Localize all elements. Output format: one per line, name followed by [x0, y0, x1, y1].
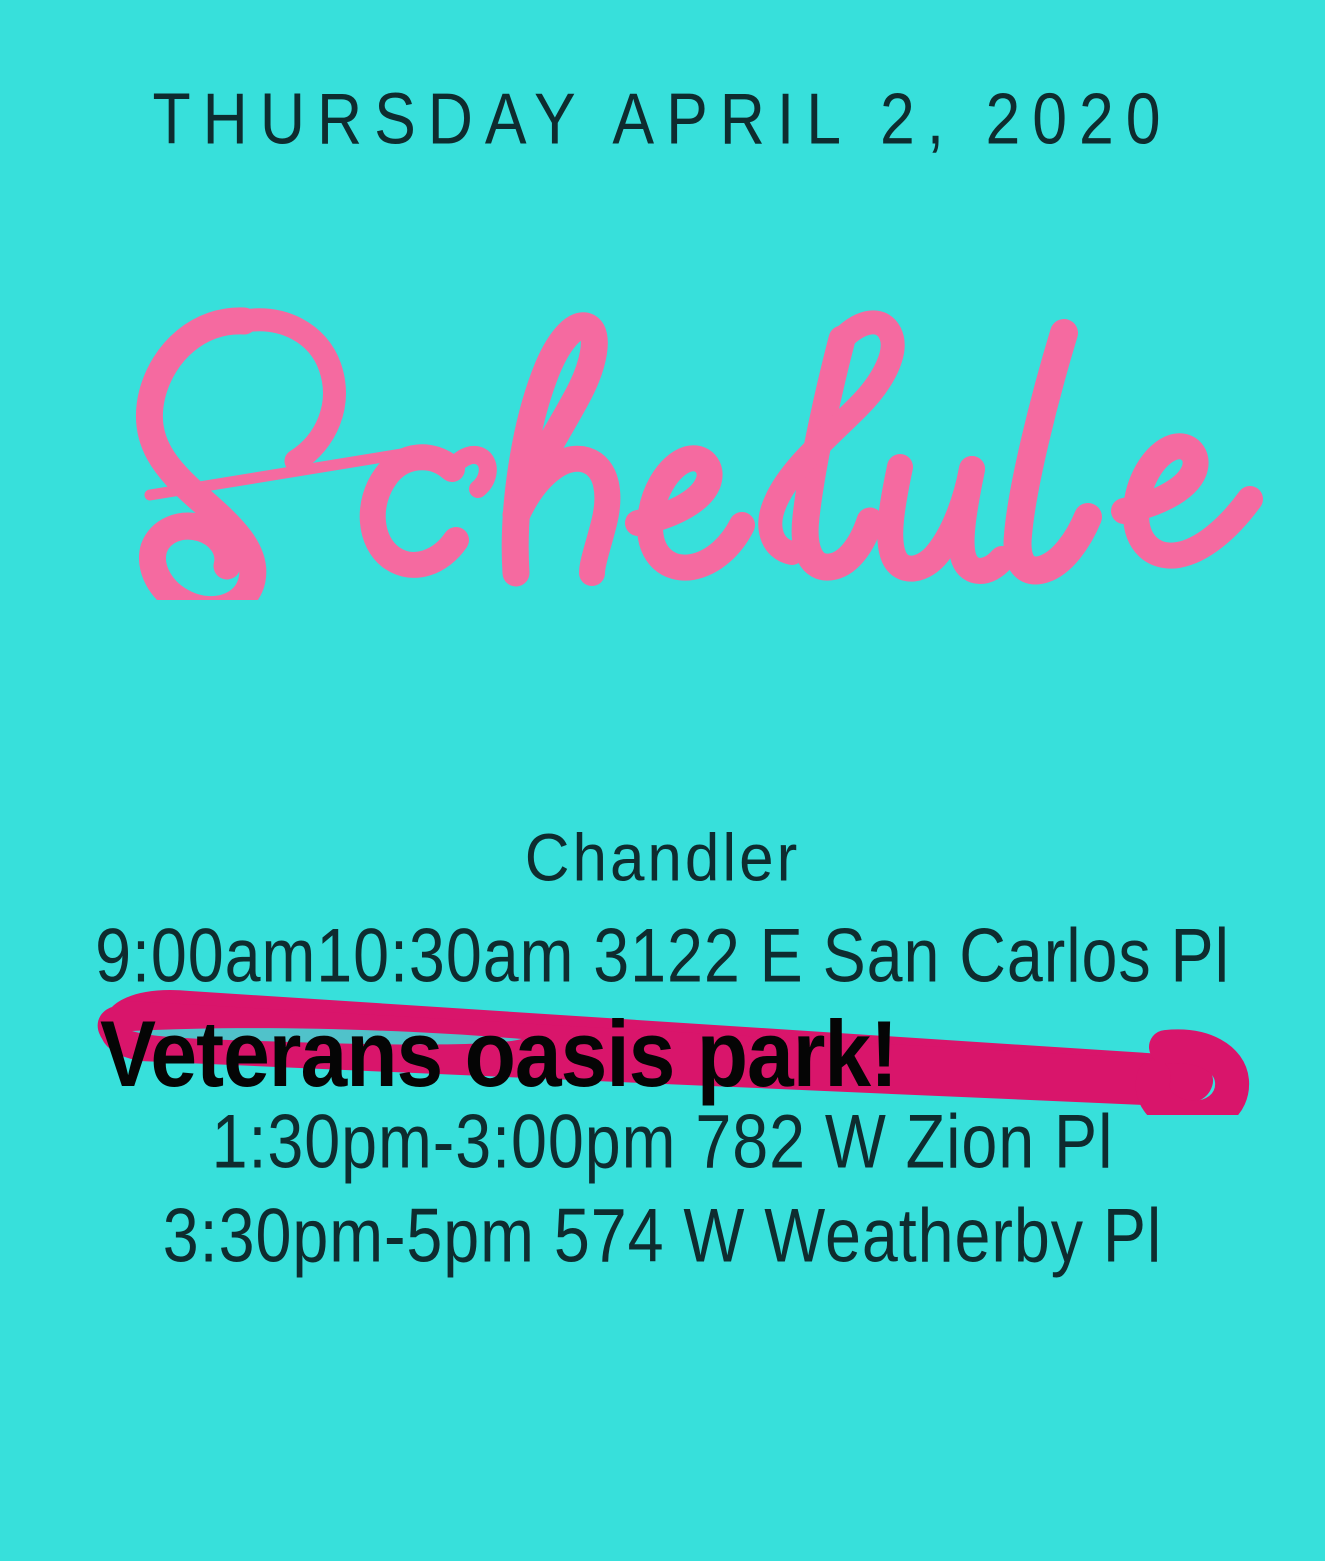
schedule-script-title: Schedule [0, 255, 1325, 600]
schedule-entry-1: 9:00am10:30am 3122 E San Carlos Pl [33, 912, 1292, 999]
annotation-text: Veterans oasis park! [100, 1000, 1250, 1109]
schedule-entry-2: 1:30pm-3:00pm 782 W Zion Pl [33, 1098, 1292, 1185]
script-brush-letterforms [149, 320, 1250, 600]
city-name: Chandler [0, 820, 1325, 897]
schedule-entry-3: 3:30pm-5pm 574 W Weatherby Pl [33, 1192, 1292, 1279]
date-header: THURSDAY APRIL 2, 2020 [53, 78, 1272, 161]
schedule-poster: THURSDAY APRIL 2, 2020 [0, 0, 1325, 1561]
